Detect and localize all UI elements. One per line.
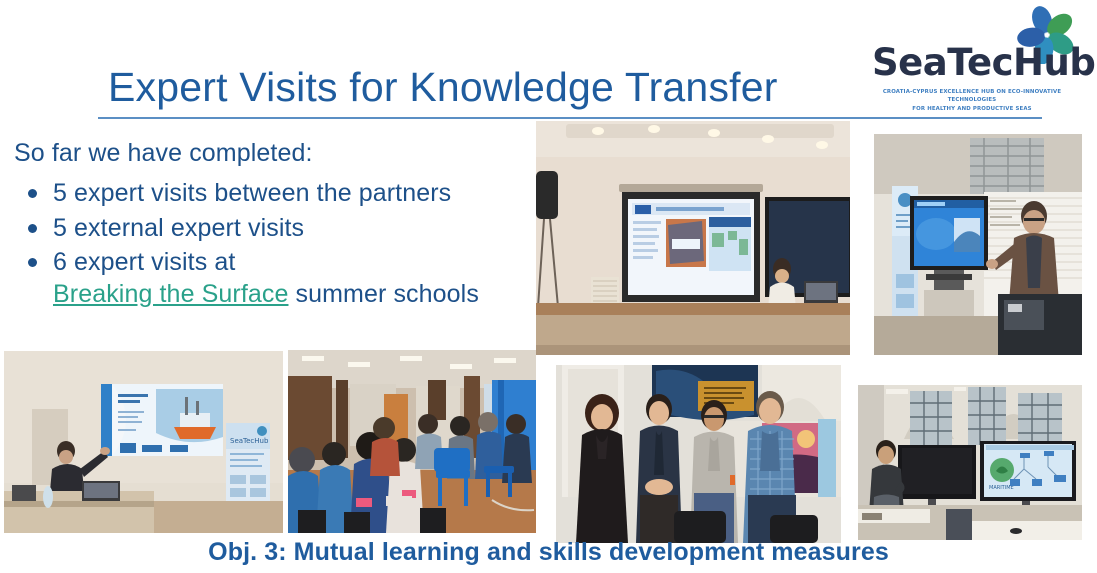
bullet-dot-icon [28,189,37,198]
logo-tagline: CROATIA-CYPRUS EXCELLENCE HUB ON ECO-INN… [872,88,1072,113]
breaking-the-surface-link[interactable]: Breaking the Surface [53,280,288,308]
footer-caption: Obj. 3: Mutual learning and skills devel… [0,538,1097,567]
photo-audience [288,350,536,533]
list-item-text: 6 expert visits at [53,248,235,276]
title-divider [98,117,1042,119]
list-item-tail: summer schools [288,280,478,308]
photo-monitor-talk [874,134,1082,355]
photo-lecture-hall [536,121,850,355]
logo-tagline-line2: FOR HEALTHY AND PRODUCTIVE SEAS [872,105,1072,113]
bullet-dot-icon [28,258,37,267]
seatechub-logo: SeaTecHub CROATIA-CYPRUS EXCELLENCE HUB … [872,4,1082,116]
svg-text:MARITIME: MARITIME [989,485,1014,491]
svg-text:SeaTecHub: SeaTecHub [230,437,269,445]
photo-group [556,365,841,543]
list-item: 6 expert visits atBreaking the Surface s… [14,247,534,310]
intro-text: So far we have completed: [14,139,313,168]
list-item-label: 5 expert visits between the partners [53,178,451,210]
page-title: Expert Visits for Knowledge Transfer [108,64,778,111]
list-item-label: 5 external expert visits [53,213,304,245]
logo-wordmark: SeaTecHub [872,44,1052,81]
logo-tagline-line1: CROATIA-CYPRUS EXCELLENCE HUB ON ECO-INN… [872,88,1072,105]
bullet-list: 5 expert visits between the partners 5 e… [14,178,534,313]
list-item: 5 expert visits between the partners [14,178,534,210]
list-item: 5 external expert visits [14,213,534,245]
photo-projector-talk: SeaTecHub [4,351,283,533]
bullet-dot-icon [28,224,37,233]
photo-arched-room: MARITIME [858,385,1082,540]
list-item-label: 6 expert visits atBreaking the Surface s… [53,247,479,310]
slide-canvas: SeaTecHub CROATIA-CYPRUS EXCELLENCE HUB … [0,0,1097,573]
